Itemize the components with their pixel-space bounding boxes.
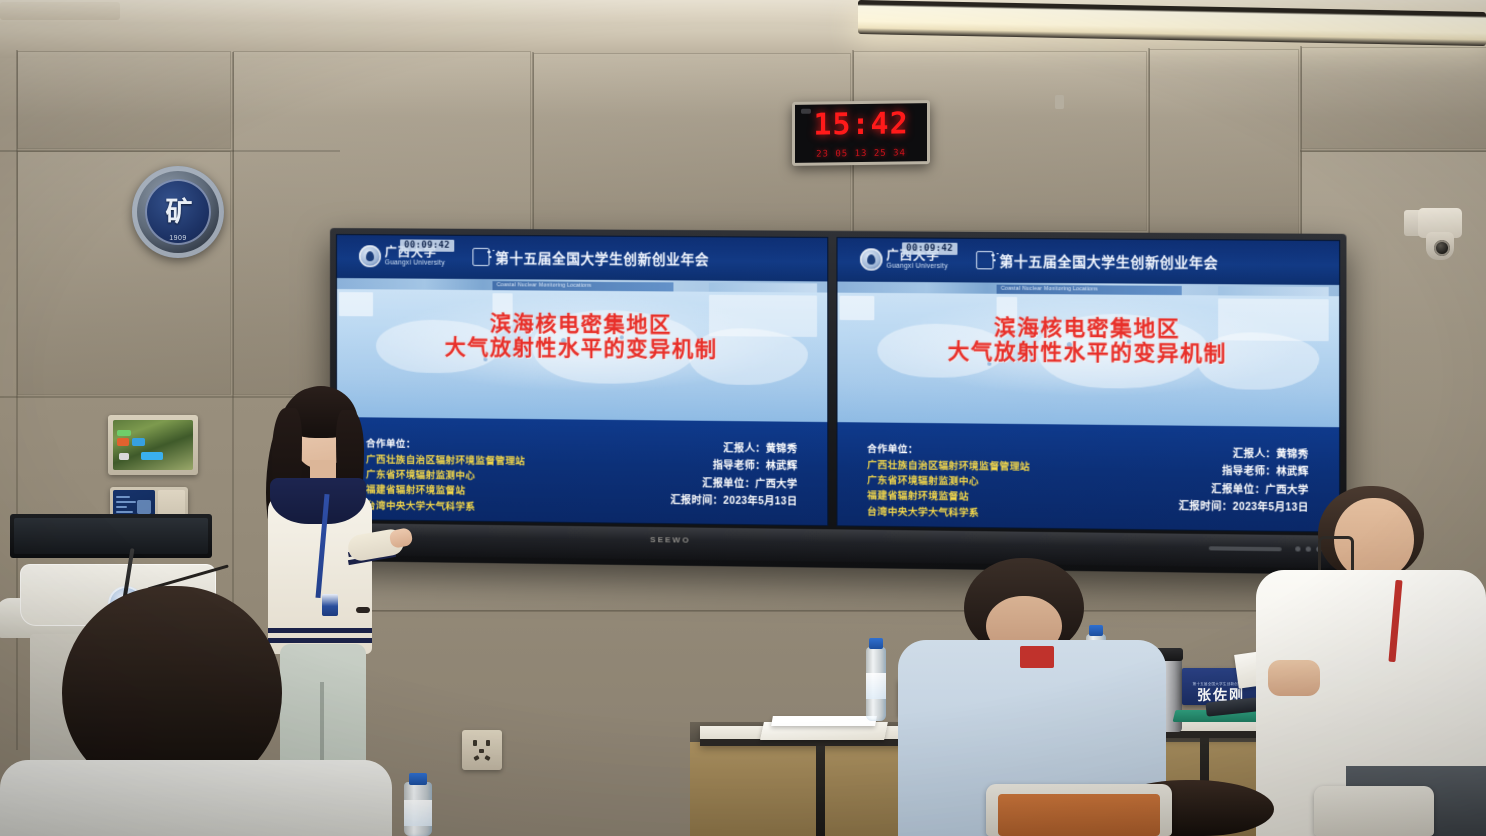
map-right-bar [1218,286,1329,296]
presenter-sailor-collar [270,478,366,524]
presenter-badge [322,594,338,616]
map-title-text: Coastal Nuclear Monitoring Locations [1001,286,1098,293]
bottle-label [404,800,432,826]
conference-banner: 第十五届全国大学生创新创业年会 [472,247,709,269]
map-title-text: Coastal Nuclear Monitoring Locations [497,282,592,289]
university-seal-icon [860,249,883,271]
touch-display-screen[interactable] [113,420,193,470]
credits-block: 汇报人：黄锦秀 指导老师：林武辉 汇报单位：广西大学 汇报时间：2023年5月1… [1102,425,1339,532]
credit-presenter: 汇报人：黄锦秀 [596,439,798,459]
water-bottle [404,782,432,836]
podium-monitor-screen[interactable] [14,518,208,554]
university-seal-icon [359,245,381,267]
collaborators-block: 合作单位： 广西壮族自治区辐射环境监督管理站 广东省环境辐射监测中心 福建省辐射… [837,422,1102,529]
clock-time: 15:42 [795,106,927,143]
wall-panel [18,52,230,148]
table-leg [816,746,825,836]
slide-header: 广西大学 Guangxi University 00:09:42 第十五届全国大… [337,235,827,281]
collaborator-item: 台湾中央大学大气科学系 [867,504,1102,522]
screens-container: 广西大学 Guangxi University 00:09:42 第十五届全国大… [336,234,1340,533]
touch-tile[interactable] [117,430,131,436]
person-shoulders [0,760,392,836]
credit-date: 汇报时间：2023年5月13日 [1102,497,1308,517]
touch-tile[interactable] [141,452,163,460]
touch-tile[interactable] [119,453,129,460]
emblem-glyph: 矿 [166,199,191,226]
presentation-timer: 00:09:42 [400,240,454,252]
wall-power-socket [462,730,502,770]
map-title-bar: Coastal Nuclear Monitoring Locations [493,281,674,291]
person-lanyard [1020,646,1054,668]
ptz-camera [1404,208,1462,266]
display-brand-label: SEEWO [650,535,690,545]
conference-banner-text: 第十五届全国大学生创新创业年会 [495,247,709,269]
wall-touch-display[interactable] [108,415,198,475]
ceiling-light-strip-left [0,2,120,20]
camera-lens-icon [1434,240,1450,256]
bottle-cap [869,638,883,649]
bezel-speaker-grill [1209,546,1282,551]
conference-room-photo: 矿 1909 15:42 23 05 13 25 34 [0,0,1486,836]
chair-cushion [998,794,1160,836]
wall-panel [1302,48,1486,148]
credit-advisor: 指导老师：林武辉 [596,456,798,476]
university-name-en: Guangxi University [886,264,948,271]
presenter-shirt-stripe [268,628,372,633]
chair-center [986,784,1172,836]
slide-title: 滨海核电密集地区 大气放射性水平的变异机制 [837,315,1339,368]
dual-display-wall[interactable]: 广西大学 Guangxi University 00:09:42 第十五届全国大… [330,228,1346,575]
presentation-timer: 00:09:42 [902,243,957,256]
slide-footer: 合作单位： 广西壮族自治区辐射环境监督管理站 广东省环境辐射监测中心 福建省辐射… [837,422,1339,532]
touch-tile[interactable] [132,438,145,446]
credit-date: 汇报时间：2023年5月13日 [596,491,798,511]
slide-title-line-2: 大气放射性水平的变异机制 [837,339,1339,368]
bottle-cap [1089,625,1103,636]
presenter-shirt-stripe [268,638,372,643]
slide-title: 滨海核电密集地区 大气放射性水平的变异机制 [337,311,827,364]
emblem-year: 1909 [132,235,224,242]
university-name-en: Guangxi University [385,260,445,267]
person-hand [1268,660,1320,696]
slide-title-line-2: 大气放射性水平的变异机制 [337,335,827,363]
presentation-slide-right: 广西大学 Guangxi University 00:09:42 第十五届全国大… [837,238,1339,532]
conference-banner: 第十五届全国大学生创新创业年会 [976,250,1219,272]
bottle-label [866,673,886,699]
slide-header: 广西大学 Guangxi University 00:09:42 第十五届全国大… [837,238,1339,285]
collab-heading: 合作单位： [867,442,1102,460]
map-title-bar: Coastal Nuclear Monitoring Locations [997,284,1182,294]
bezel-button-icon[interactable] [1295,546,1300,551]
credit-presenter: 汇报人：黄锦秀 [1102,444,1308,464]
slide-body: Coastal Nuclear Monitoring Locations [837,281,1339,427]
wall-panel [1150,50,1298,240]
map-right-bar [709,282,818,292]
clock-date-row: 23 05 13 25 34 [795,148,927,160]
university-emblem: 矿 1909 [132,166,224,258]
clock-mount-bracket [1055,95,1064,109]
bezel-button-icon[interactable] [1306,546,1311,551]
presenter-hand [388,527,413,549]
conference-banner-text: 第十五届全国大学生创新创业年会 [999,250,1218,272]
chair-right [1314,786,1434,836]
credits-block: 汇报人：黄锦秀 指导老师：林武辉 汇报单位：广西大学 汇报时间：2023年5月1… [596,419,827,525]
conference-logo-icon [976,251,994,269]
wall-digital-clock: 15:42 23 05 13 25 34 [792,100,930,166]
presenter-wristband [356,607,370,613]
bottle-cap [409,773,427,785]
documents-stack [771,716,877,726]
screen-right[interactable]: 广西大学 Guangxi University 00:09:42 第十五届全国大… [836,237,1340,533]
conference-logo-icon [472,248,489,266]
water-bottle [866,647,886,721]
touch-tile[interactable] [117,438,129,446]
podium-monitor [10,514,212,558]
